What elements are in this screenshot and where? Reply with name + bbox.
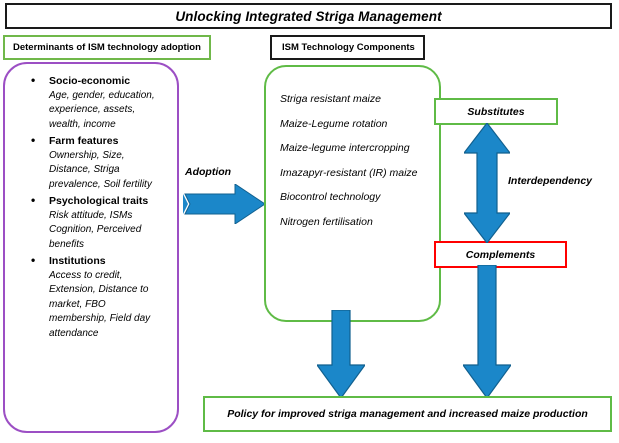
determinants-header-box: Determinants of ISM technology adoption	[3, 35, 211, 60]
complements-label: Complements	[466, 249, 535, 261]
interdependency-label: Interdependency	[508, 175, 592, 187]
list-item: Farm features Ownership, Size, Distance,…	[23, 134, 171, 192]
policy-text: Policy for improved striga management an…	[227, 408, 588, 420]
determinants-panel: Socio-economic Age, gender, education, e…	[3, 62, 179, 433]
double-headed-vertical-arrow-icon	[464, 123, 510, 243]
component-item: Imazapyr-resistant (IR) maize	[280, 167, 427, 181]
component-item: Maize-Legume rotation	[280, 118, 427, 132]
determinants-header-label: Determinants of ISM technology adoption	[13, 42, 201, 53]
component-item: Nitrogen fertilisation	[280, 216, 427, 230]
determinant-details: Ownership, Size, Distance, Striga preval…	[23, 149, 171, 193]
components-header-box: ISM Technology Components	[270, 35, 425, 60]
determinant-heading: Institutions	[23, 254, 171, 269]
right-arrow-icon	[183, 184, 265, 224]
determinant-details: Access to credit, Extension, Distance to…	[23, 269, 171, 342]
substitutes-box: Substitutes	[434, 98, 558, 125]
policy-outcome-box: Policy for improved striga management an…	[203, 396, 612, 432]
determinants-list: Socio-economic Age, gender, education, e…	[11, 74, 171, 341]
adoption-label: Adoption	[185, 166, 231, 178]
diagram-title-box: Unlocking Integrated Striga Management	[5, 3, 612, 29]
list-item: Psychological traits Risk attitude, ISMs…	[23, 194, 171, 252]
substitutes-label: Substitutes	[467, 106, 524, 118]
component-item: Biocontrol technology	[280, 191, 427, 205]
ism-components-panel: Striga resistant maize Maize-Legume rota…	[264, 65, 441, 322]
page-title: Unlocking Integrated Striga Management	[175, 9, 441, 24]
adoption-flow: Adoption	[183, 166, 265, 224]
complements-box: Complements	[434, 241, 567, 268]
determinant-heading: Socio-economic	[23, 74, 171, 89]
diagram-canvas: Unlocking Integrated Striga Management D…	[0, 0, 619, 443]
determinant-details: Risk attitude, ISMs Cognition, Perceived…	[23, 209, 171, 253]
determinant-heading: Psychological traits	[23, 194, 171, 209]
list-item: Socio-economic Age, gender, education, e…	[23, 74, 171, 132]
down-arrow-icon	[317, 310, 365, 398]
component-item: Maize-legume intercropping	[280, 142, 427, 156]
list-item: Institutions Access to credit, Extension…	[23, 254, 171, 341]
determinant-heading: Farm features	[23, 134, 171, 149]
component-item: Striga resistant maize	[280, 93, 427, 107]
determinant-details: Age, gender, education, experience, asse…	[23, 89, 171, 133]
down-arrow-icon	[463, 265, 511, 398]
components-header-label: ISM Technology Components	[282, 42, 415, 53]
